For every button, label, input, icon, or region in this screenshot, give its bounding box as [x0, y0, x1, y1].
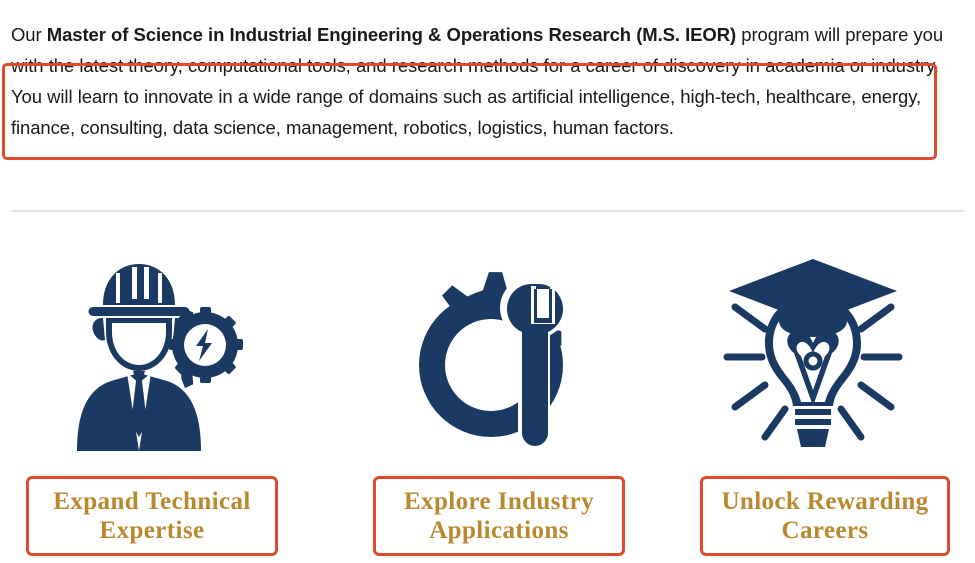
feature-label-text-1: Explore Industry Applications [376, 487, 622, 545]
intro-lead-text: Our [11, 24, 47, 45]
feature-label-card-0[interactable]: Expand Technical Expertise [26, 476, 278, 556]
feature-label-card-1[interactable]: Explore Industry Applications [373, 476, 625, 556]
feature-icon-row [0, 240, 975, 470]
feature-label-card-2[interactable]: Unlock Rewarding Careers [700, 476, 950, 556]
section-divider [11, 210, 964, 212]
intro-section: Our Master of Science in Industrial Engi… [0, 0, 975, 175]
feature-label-text-0: Expand Technical Expertise [29, 487, 275, 545]
feature-column-0 [0, 240, 325, 470]
engineer-hardhat-gear-icon [75, 255, 250, 455]
program-name-bold: Master of Science in Industrial Engineer… [47, 24, 736, 45]
feature-column-2 [650, 240, 975, 470]
gear-wrench-icon [395, 256, 581, 454]
feature-label-row: Expand Technical Expertise Explore Indus… [0, 476, 975, 560]
lightbulb-graduation-cap-icon [713, 257, 913, 453]
feature-column-1 [325, 240, 650, 470]
feature-label-text-2: Unlock Rewarding Careers [703, 487, 947, 545]
intro-paragraph: Our Master of Science in Industrial Engi… [11, 19, 966, 143]
